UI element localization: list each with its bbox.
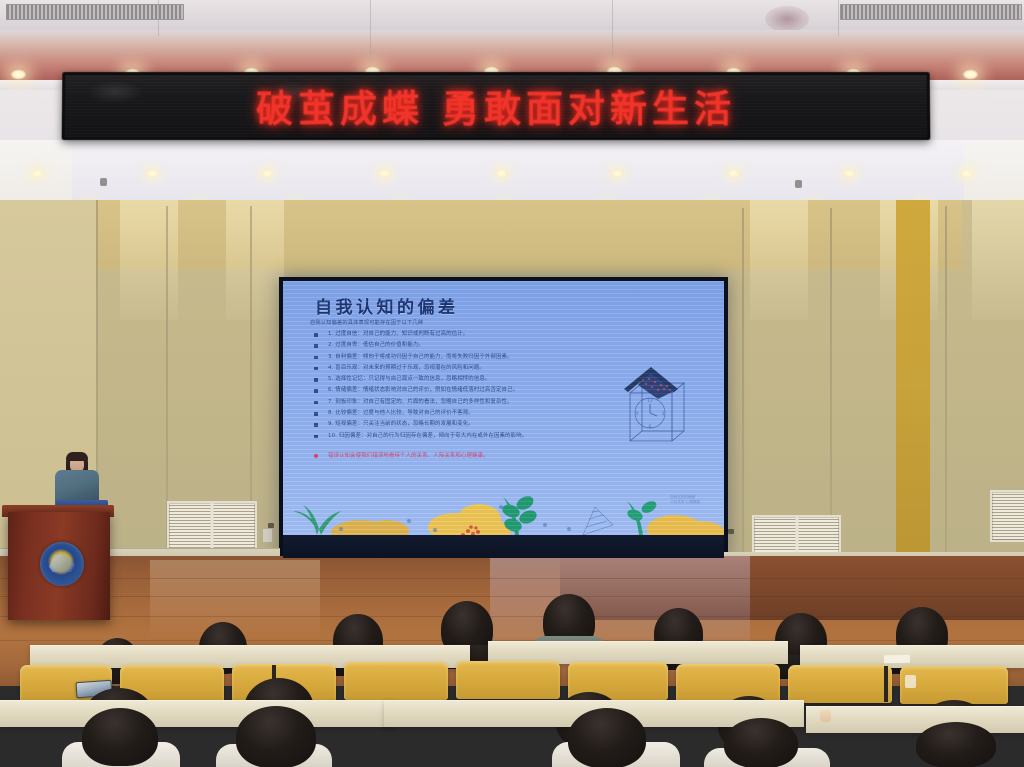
slide-watermark: 自我认知的偏差 人际关系·心理健康 xyxy=(670,495,700,505)
ceiling-downlight-back-8 xyxy=(843,169,856,178)
auditorium-desk-row-2 xyxy=(0,700,394,727)
wall-air-vent-left xyxy=(167,501,257,551)
auditorium-seat[interactable] xyxy=(900,666,1008,704)
ceiling-vent-right xyxy=(840,4,1022,20)
svg-text:9: 9 xyxy=(636,411,639,417)
university-crest xyxy=(40,542,84,586)
ceiling-downlight-cove-1 xyxy=(10,69,27,80)
vent-divider xyxy=(211,503,214,549)
ceiling-sensor-right xyxy=(795,180,802,188)
screen-side-indicator-left xyxy=(268,523,274,528)
svg-text:6: 6 xyxy=(649,424,652,430)
speaker-hair xyxy=(66,452,88,461)
slide-flora-decoration: 自我认知的偏差 人际关系·心理健康 xyxy=(283,477,724,535)
svg-text:3: 3 xyxy=(662,411,665,417)
ceiling-sensor-left xyxy=(100,178,107,186)
floor-plank-line xyxy=(0,596,1024,597)
slide-highlight-note: 错误认知会使我们错误地看待个人的关系、人际关系和心理健康。 xyxy=(314,451,489,459)
slide-surface: 自我认知的偏差 自我认知偏差的具体表现可能存在因于以下几种 1. 过度自信：对自… xyxy=(283,281,724,558)
slide-subtitle: 自我认知偏差的具体表现可能存在因于以下几种 xyxy=(310,319,423,326)
banner-text: 破茧成蝶 勇敢面对新生活 xyxy=(256,79,736,133)
wall-seam-5 xyxy=(830,208,832,558)
ceiling-downlight-back-6 xyxy=(611,169,624,178)
ceiling-stain xyxy=(765,6,809,32)
attendee-head xyxy=(236,706,316,767)
wall-air-vent-far-right xyxy=(990,490,1024,542)
screen-side-indicator-right xyxy=(728,529,734,534)
ceiling-downlight-back-4 xyxy=(378,169,391,178)
led-scrolling-banner: 破茧成蝶 勇敢面对新生活 xyxy=(62,72,931,140)
auditorium-desk-row-2c xyxy=(806,706,1024,733)
auditorium-seat[interactable] xyxy=(676,664,780,702)
screen-lower-dark-strip xyxy=(283,535,724,558)
auditorium-seat[interactable] xyxy=(344,662,448,700)
ceiling-seam-4 xyxy=(838,0,839,36)
auditorium-seat[interactable] xyxy=(788,665,892,703)
wall-gold-accent-strip xyxy=(896,200,930,560)
svg-text:12: 12 xyxy=(647,398,653,404)
attendee-head xyxy=(82,708,158,766)
house-clock-illustration: 123 69 xyxy=(618,359,690,451)
ceiling-downlight-back-2 xyxy=(146,169,159,178)
paper-cup[interactable] xyxy=(820,710,831,722)
slide-bullet: 2. 过度自卑：低估自己的价值和能力。 xyxy=(310,340,710,351)
wall-lightwash-1 xyxy=(120,200,178,320)
wall-seam-6 xyxy=(945,206,947,558)
ceiling-downlight-back-9 xyxy=(960,169,973,178)
ceiling-downlight-back-7 xyxy=(727,169,740,178)
wall-seam-4 xyxy=(742,208,744,558)
ceiling-seam-1 xyxy=(158,0,159,36)
banner-glare-left xyxy=(89,81,141,103)
wall-lightwash-3 xyxy=(750,200,808,320)
lecture-hall-photo: 破茧成蝶 勇敢面对新生活 自我认知的偏差 自我认知偏差的具体表现可能存在因于以下… xyxy=(0,0,1024,767)
floor-plank-line xyxy=(0,578,1024,579)
wall-lightwash-2 xyxy=(226,200,284,320)
attendee-head xyxy=(916,722,996,767)
floor-plank-line xyxy=(0,616,1024,617)
wall-lightwash-5 xyxy=(972,200,1024,320)
flora-svg xyxy=(283,477,724,535)
attendee-head xyxy=(568,708,646,767)
seat-gap xyxy=(884,666,888,702)
ceiling-downlight-back-3 xyxy=(261,169,274,178)
house-clock-icon: 123 69 xyxy=(618,359,690,451)
paper-sheet xyxy=(884,655,910,663)
wall-upper-gold-band xyxy=(72,200,962,270)
wall-light-switch[interactable] xyxy=(262,528,273,543)
auditorium-seat[interactable] xyxy=(456,661,560,699)
ceiling-downlight-back-5 xyxy=(495,169,508,178)
slide-title: 自我认知的偏差 xyxy=(315,293,459,318)
ceiling-downlight-back-1 xyxy=(31,169,44,178)
ceiling-downlight-cove-9 xyxy=(962,69,979,80)
led-video-wall: 自我认知的偏差 自我认知偏差的具体表现可能存在因于以下几种 1. 过度自信：对自… xyxy=(279,277,728,562)
seat-number-tag xyxy=(905,675,916,688)
attendee-head xyxy=(724,718,798,767)
slide-bullet: 1. 过度自信：对自己的能力、知识或判断有过高的估计。 xyxy=(310,329,710,340)
